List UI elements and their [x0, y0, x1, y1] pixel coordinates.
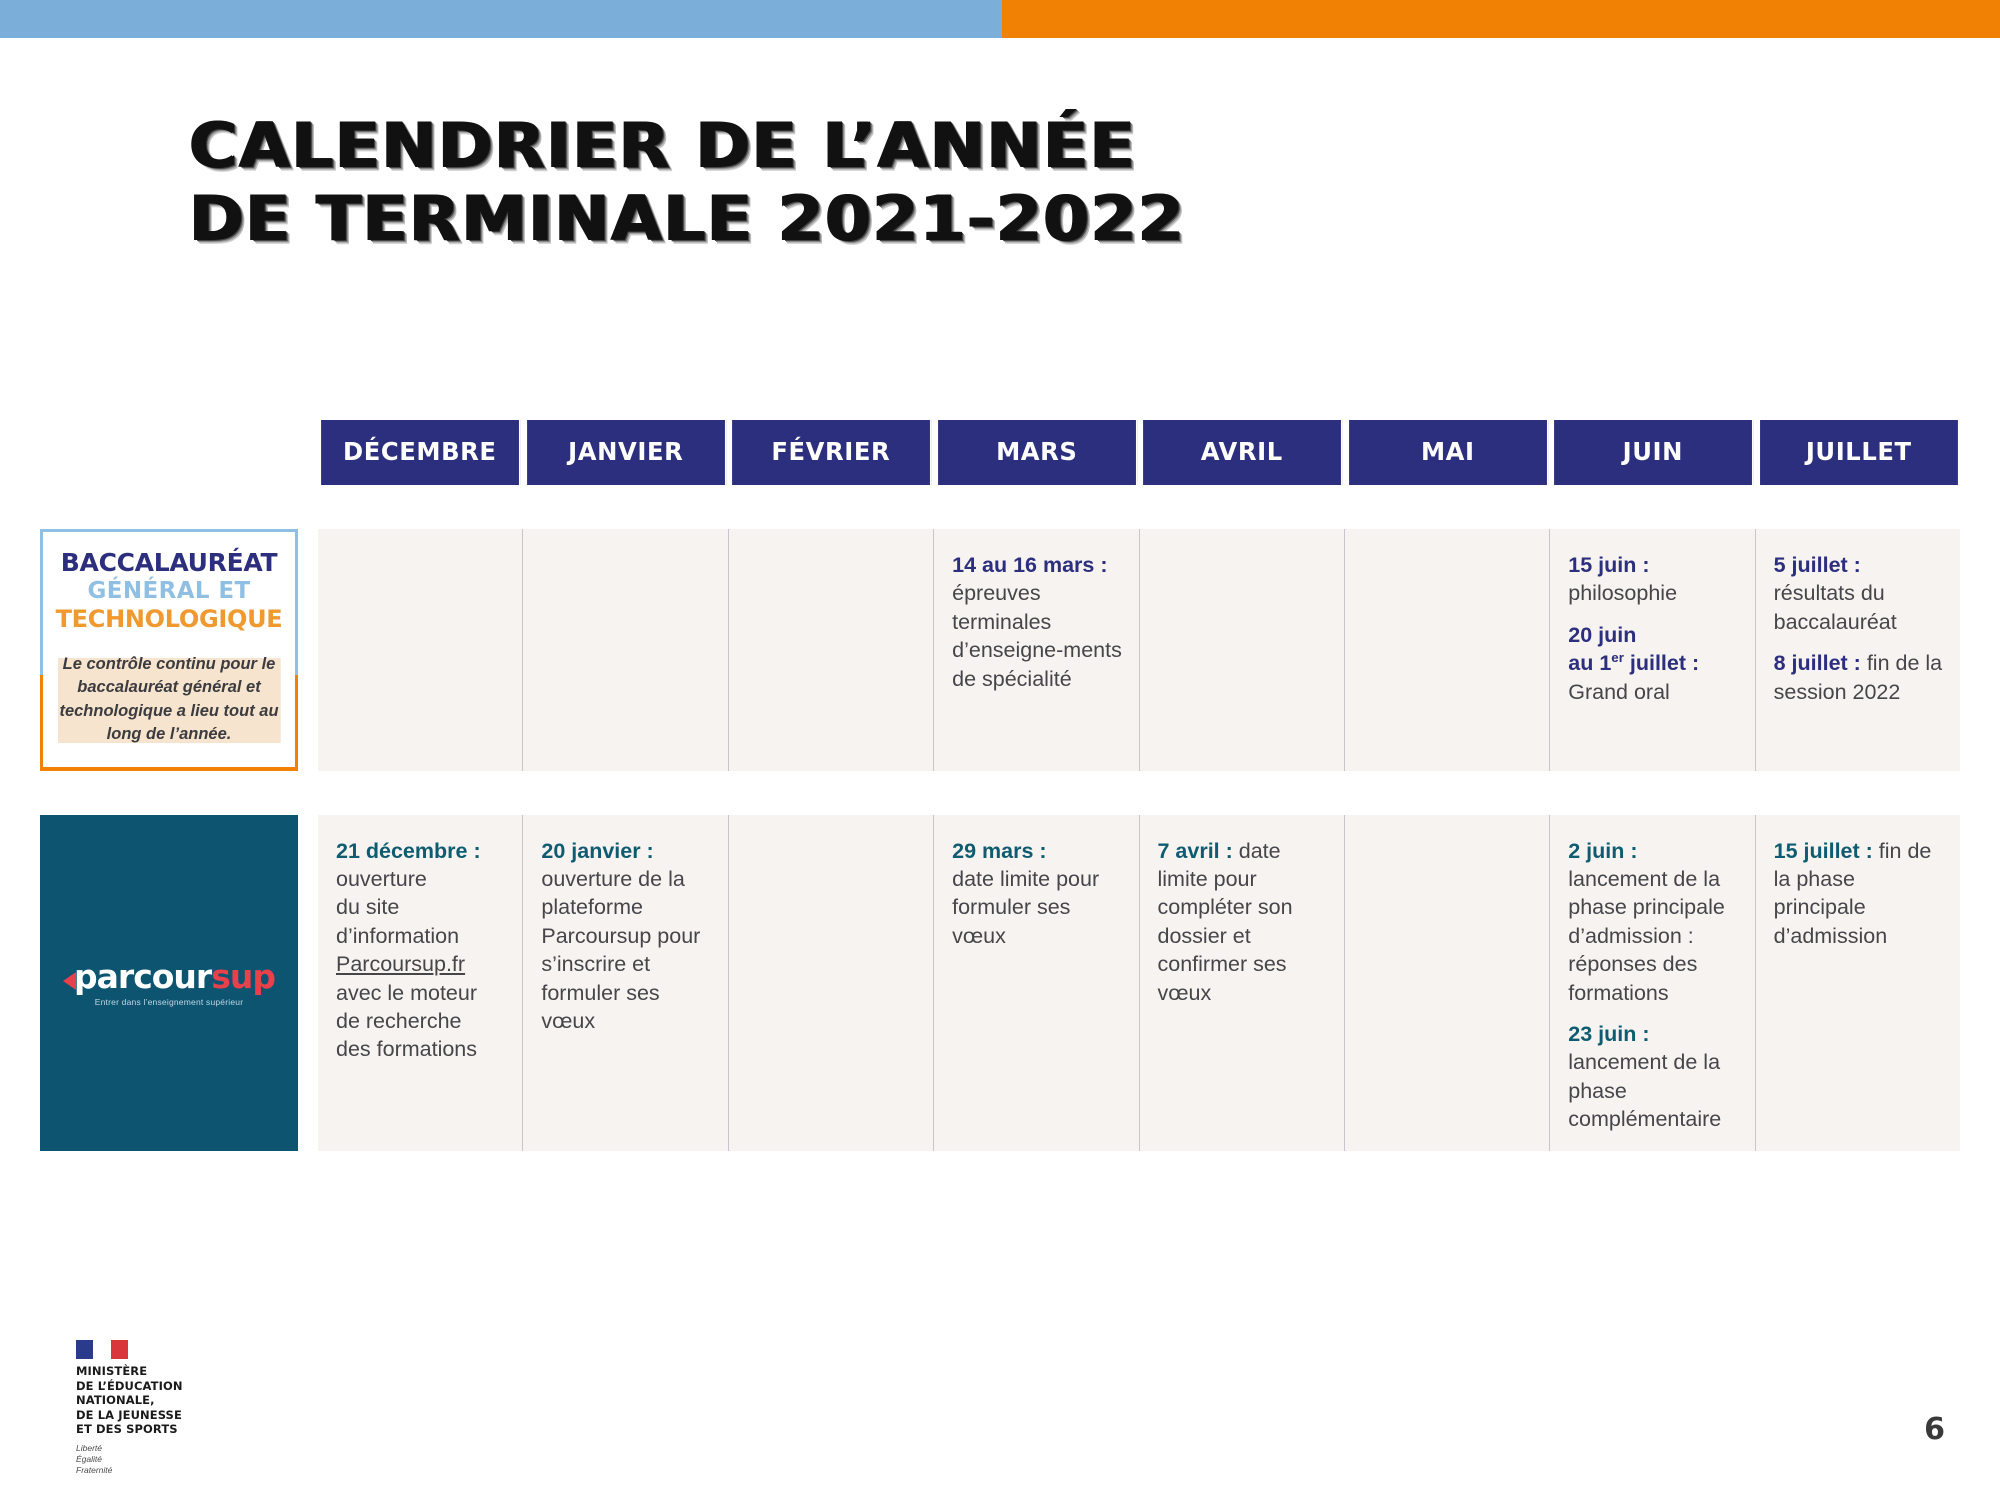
- entry-text: date limite pour compléter son dossier e…: [1158, 839, 1293, 1005]
- cell-psup-janvier: 20 janvier : ouverture de la plateforme …: [523, 815, 728, 1152]
- cell-bac-fevrier: [729, 529, 934, 771]
- parcoursup-month-cells: 21 décembre : ouverturedu sited’informat…: [318, 815, 1960, 1152]
- parcoursup-fr-link[interactable]: Parcoursup.fr: [336, 952, 465, 976]
- flag-blue-band: [76, 1340, 93, 1359]
- calendar-row-parcoursup: parcoursup Entrer dans l’enseignement su…: [40, 815, 1960, 1152]
- parcoursup-word-red: sup: [211, 957, 275, 996]
- entry-date: 29 mars :: [952, 839, 1046, 863]
- entry-date: 7 avril :: [1158, 839, 1233, 863]
- entry-psup-mars-1: 29 mars : date limite pour formuler ses …: [952, 837, 1122, 951]
- cell-bac-juin: 15 juin : philosophie 20 juinau 1er juil…: [1550, 529, 1755, 771]
- cell-bac-juillet: 5 juillet : résultats du baccalauréat 8 …: [1756, 529, 1960, 771]
- cell-bac-avril: [1140, 529, 1345, 771]
- french-flag-icon: [76, 1340, 128, 1359]
- entry-bac-juin-1: 15 juin : philosophie: [1568, 551, 1738, 608]
- cell-bac-mai: [1345, 529, 1550, 771]
- entry-text: Grand oral: [1568, 680, 1670, 704]
- entry-psup-juillet-1: 15 juillet : fin de la phase principale …: [1774, 837, 1944, 951]
- month-header-juin: JUIN: [1554, 420, 1753, 485]
- page-title-line-1: CALENDRIER DE L’ANNÉE: [188, 110, 1778, 183]
- cell-bac-mars: 14 au 16 mars : épreuves terminales d’en…: [934, 529, 1139, 771]
- entry-text: ouverturedu sited’informationParcoursup.…: [336, 867, 477, 1061]
- parcoursup-logo-panel: parcoursup Entrer dans l’enseignement su…: [40, 815, 298, 1152]
- entry-bac-juillet-2: 8 juillet : fin de la session 2022: [1774, 649, 1944, 706]
- entry-psup-juin-2: 23 juin : lancement de la phase compléme…: [1568, 1020, 1738, 1134]
- baccalaureat-label-column: BACCALAURÉAT GÉNÉRAL ET TECHNOLOGIQUE Le…: [40, 529, 318, 771]
- month-header-mars: MARS: [938, 420, 1137, 485]
- calendar-row-baccalaureat: BACCALAURÉAT GÉNÉRAL ET TECHNOLOGIQUE Le…: [40, 529, 1960, 771]
- month-header-decembre: DÉCEMBRE: [321, 420, 520, 485]
- top-banner: [0, 0, 2000, 38]
- ministry-name: MINISTÈRE DE L’ÉDUCATION NATIONALE, DE L…: [76, 1364, 306, 1437]
- month-header-mai: MAI: [1349, 420, 1548, 485]
- entry-text: épreuves terminales d’enseigne-ments de …: [952, 581, 1122, 690]
- calendar-table: DÉCEMBRE JANVIER FÉVRIER MARS AVRIL MAI …: [40, 420, 1960, 1151]
- entry-text: lancement de la phase complémentaire: [1568, 1050, 1721, 1131]
- banner-blue-segment: [0, 0, 1002, 38]
- entry-psup-juin-1: 2 juin : lancement de la phase principal…: [1568, 837, 1738, 1007]
- month-header-avril: AVRIL: [1143, 420, 1342, 485]
- entry-bac-juillet-1: 5 juillet : résultats du baccalauréat: [1774, 551, 1944, 636]
- entry-date: 15 juillet :: [1774, 839, 1873, 863]
- entry-date: 8 juillet :: [1774, 651, 1861, 675]
- cell-psup-fevrier: [729, 815, 934, 1152]
- parcoursup-word-white: parcour: [74, 957, 211, 996]
- cell-bac-janvier: [523, 529, 728, 771]
- entry-date: 5 juillet :: [1774, 553, 1861, 577]
- month-header-fevrier: FÉVRIER: [732, 420, 931, 485]
- entry-date: 21 décembre :: [336, 839, 481, 863]
- parcoursup-label-column: parcoursup Entrer dans l’enseignement su…: [40, 815, 318, 1152]
- cell-psup-mai: [1345, 815, 1550, 1152]
- baccalaureat-badge: BACCALAURÉAT GÉNÉRAL ET TECHNOLOGIQUE Le…: [40, 529, 298, 771]
- ministry-logo: MINISTÈRE DE L’ÉDUCATION NATIONALE, DE L…: [76, 1340, 306, 1476]
- parcoursup-wordmark: parcoursup: [63, 960, 275, 993]
- cell-psup-juillet: 15 juillet : fin de la phase principale …: [1756, 815, 1960, 1152]
- entry-text: philosophie: [1568, 581, 1677, 605]
- entry-bac-mars-1: 14 au 16 mars : épreuves terminales d’en…: [952, 551, 1122, 693]
- flag-red-band: [111, 1340, 128, 1359]
- entry-text: date limite pour formuler ses vœux: [952, 867, 1099, 948]
- baccalaureat-month-cells: 14 au 16 mars : épreuves terminales d’en…: [318, 529, 1960, 771]
- badge-title-technologique: TECHNOLOGIQUE: [53, 605, 285, 633]
- arrow-icon: [63, 972, 76, 990]
- badge-note-text: Le contrôle continu pour le baccalauréat…: [53, 649, 285, 753]
- page-number: 6: [1924, 1412, 1945, 1447]
- calendar-header-row: DÉCEMBRE JANVIER FÉVRIER MARS AVRIL MAI …: [40, 420, 1960, 485]
- cell-psup-juin: 2 juin : lancement de la phase principal…: [1550, 815, 1755, 1152]
- cell-bac-decembre: [318, 529, 523, 771]
- entry-date: 2 juin :: [1568, 839, 1637, 863]
- cell-psup-avril: 7 avril : date limite pour compléter son…: [1140, 815, 1345, 1152]
- page-title-line-2: DE TERMINALE 2021-2022: [188, 183, 1778, 256]
- entry-psup-avril-1: 7 avril : date limite pour compléter son…: [1158, 837, 1328, 1007]
- entry-date: 23 juin :: [1568, 1022, 1649, 1046]
- flag-white-band: [93, 1340, 110, 1359]
- cell-psup-mars: 29 mars : date limite pour formuler ses …: [934, 815, 1139, 1152]
- entry-text: résultats du baccalauréat: [1774, 581, 1897, 633]
- banner-orange-segment: [1002, 0, 2000, 38]
- entry-text: lancement de la phase principale d’admis…: [1568, 867, 1725, 1005]
- cell-psup-decembre: 21 décembre : ouverturedu sited’informat…: [318, 815, 523, 1152]
- republic-motto: Liberté Égalité Fraternité: [76, 1443, 306, 1476]
- badge-title-baccalaureat: BACCALAURÉAT: [53, 548, 285, 577]
- entry-date: 20 janvier :: [541, 839, 653, 863]
- page-title: CALENDRIER DE L’ANNÉE DE TERMINALE 2021-…: [188, 110, 1688, 255]
- entry-psup-janvier-1: 20 janvier : ouverture de la plateforme …: [541, 837, 711, 1036]
- badge-title-general-et: GÉNÉRAL ET: [53, 578, 285, 604]
- entry-text: ouverture de la plateforme Parcoursup po…: [541, 867, 700, 1033]
- month-header-cells: DÉCEMBRE JANVIER FÉVRIER MARS AVRIL MAI …: [318, 420, 1960, 485]
- month-header-janvier: JANVIER: [527, 420, 726, 485]
- entry-date: 15 juin :: [1568, 553, 1649, 577]
- entry-psup-decembre-1: 21 décembre : ouverturedu sited’informat…: [336, 837, 506, 1064]
- parcoursup-logo: parcoursup Entrer dans l’enseignement su…: [63, 960, 275, 1007]
- parcoursup-tagline: Entrer dans l’enseignement supérieur: [63, 998, 275, 1007]
- entry-date: 20 juinau 1er juillet :: [1568, 623, 1699, 676]
- header-gutter: [40, 420, 318, 485]
- entry-bac-juin-2: 20 juinau 1er juillet : Grand oral: [1568, 621, 1738, 706]
- entry-date: 14 au 16 mars :: [952, 553, 1107, 577]
- month-header-juillet: JUILLET: [1760, 420, 1957, 485]
